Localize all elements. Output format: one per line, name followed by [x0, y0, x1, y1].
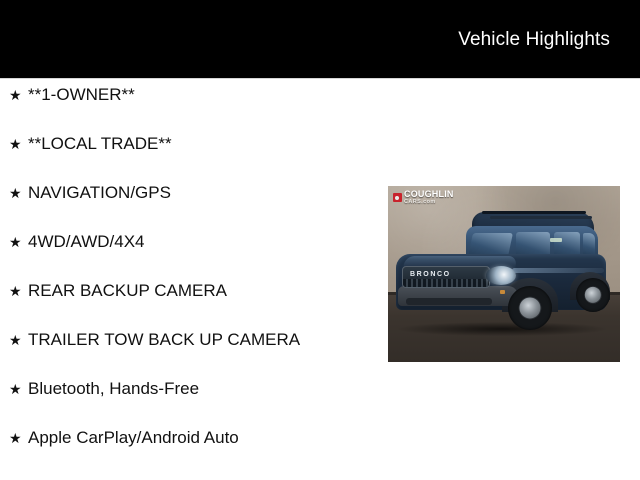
highlight-label: TRAILER TOW BACK UP CAMERA	[28, 331, 300, 350]
vehicle-photo: BRONCO COUGHLIN CARS.com	[388, 186, 620, 362]
vehicle-shadow	[398, 322, 606, 336]
star-bullet-icon: ★	[9, 431, 28, 445]
grille-slats	[403, 279, 489, 287]
star-bullet-icon: ★	[9, 333, 28, 347]
star-bullet-icon: ★	[9, 284, 28, 298]
star-bullet-icon: ★	[9, 137, 28, 151]
star-bullet-icon: ★	[9, 235, 28, 249]
list-item: ★ 4WD/AWD/4X4	[0, 233, 370, 282]
vehicle-illustration: BRONCO	[394, 210, 610, 338]
list-item: ★ NAVIGATION/GPS	[0, 184, 370, 233]
front-wheel-hub	[519, 297, 540, 318]
roof-rail-right	[490, 216, 592, 219]
highlight-label: **LOCAL TRADE**	[28, 135, 172, 154]
dealer-name: COUGHLIN	[404, 190, 454, 199]
list-item: ★ **1-OWNER**	[0, 86, 370, 135]
front-wheel	[508, 286, 552, 330]
list-item: ★ Apple CarPlay/Android Auto	[0, 429, 370, 478]
list-item: ★ **LOCAL TRADE**	[0, 135, 370, 184]
highlight-label: NAVIGATION/GPS	[28, 184, 171, 203]
dealer-wordmark: COUGHLIN CARS.com	[404, 190, 454, 206]
star-bullet-icon: ★	[9, 382, 28, 396]
star-bullet-icon: ★	[9, 186, 28, 200]
rear-wheel-hub	[585, 287, 601, 303]
headlight	[486, 266, 516, 285]
front-grille: BRONCO	[402, 266, 490, 288]
page-title: Vehicle Highlights	[458, 29, 610, 51]
side-marker-light	[500, 290, 505, 294]
list-item: ★ REAR BACKUP CAMERA	[0, 282, 370, 331]
highlight-label: 4WD/AWD/4X4	[28, 233, 145, 252]
dealer-logo-icon	[393, 193, 402, 202]
vehicle-highlights-list: ★ **1-OWNER** ★ **LOCAL TRADE** ★ NAVIGA…	[0, 86, 370, 478]
grille-badge: BRONCO	[410, 271, 451, 278]
highlight-label: Bluetooth, Hands-Free	[28, 380, 199, 399]
dealer-site: CARS.com	[404, 200, 454, 206]
roof-rail-left	[482, 211, 586, 214]
rear-wheel	[576, 278, 610, 312]
dealer-watermark: COUGHLIN CARS.com	[393, 190, 454, 206]
header-divider	[0, 78, 640, 79]
highlight-label: REAR BACKUP CAMERA	[28, 282, 227, 301]
list-item: ★ Bluetooth, Hands-Free	[0, 380, 370, 429]
bumper-lower-lip	[406, 298, 492, 305]
header-banner: Vehicle Highlights	[0, 0, 640, 78]
list-item: ★ TRAILER TOW BACK UP CAMERA	[0, 331, 370, 380]
star-bullet-icon: ★	[9, 88, 28, 102]
highlight-label: Apple CarPlay/Android Auto	[28, 429, 239, 448]
highlight-label: **1-OWNER**	[28, 86, 135, 105]
windshield-tag	[550, 238, 562, 242]
